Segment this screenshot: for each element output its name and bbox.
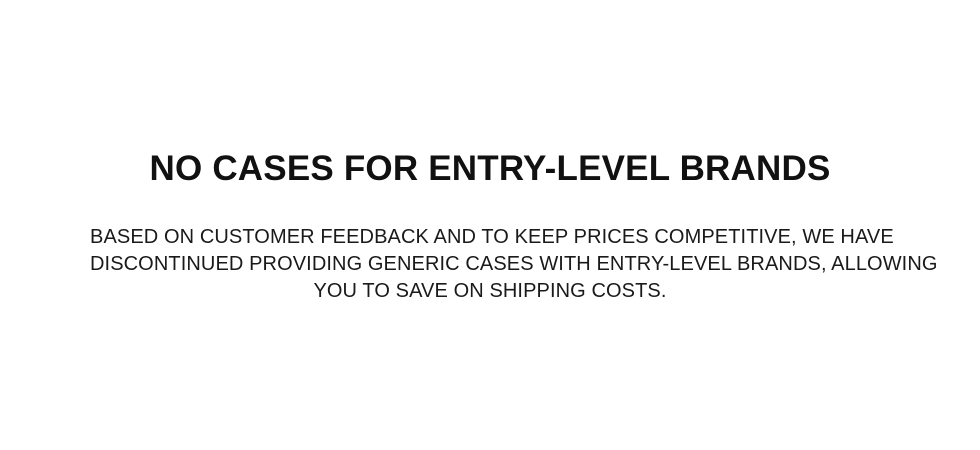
promo-description: BASED ON CUSTOMER FEEDBACK AND TO KEEP P…	[90, 186, 890, 305]
page-title: NO CASES FOR ENTRY-LEVEL BRANDS	[150, 152, 831, 186]
promo-description-line: BASED ON CUSTOMER FEEDBACK AND TO KEEP P…	[90, 224, 890, 251]
promo-description-line: DISCONTINUED PROVIDING GENERIC CASES WIT…	[90, 251, 890, 278]
promo-description-line: YOU TO SAVE ON SHIPPING COSTS.	[90, 278, 890, 305]
promo-banner: NO CASES FOR ENTRY-LEVEL BRANDS BASED ON…	[0, 0, 980, 450]
